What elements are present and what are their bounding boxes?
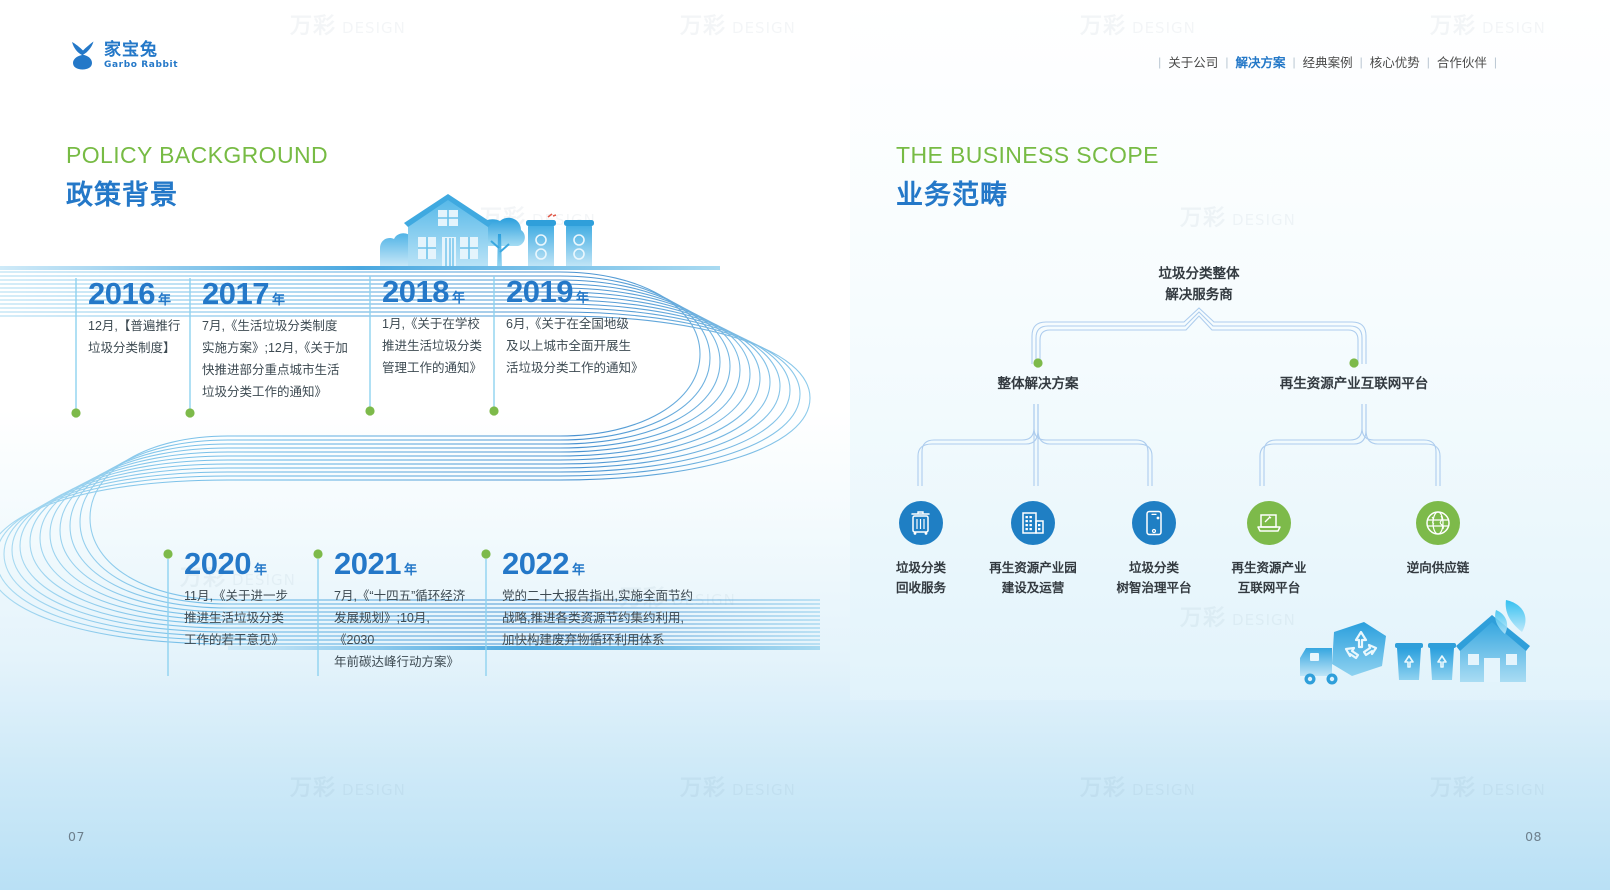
- timeline-entry-2022[interactable]: 2022年 党的二十大报告指出,实施全面节约 战略,推进各类资源节约集约利用, …: [486, 548, 716, 652]
- branch-dot-icon: [1349, 358, 1359, 368]
- nav-separator: |: [1360, 55, 1363, 69]
- timeline-year: 2019年: [506, 276, 664, 307]
- nav-item-about[interactable]: 关于公司: [1168, 52, 1218, 71]
- leaf-icon-wrap: [1416, 501, 1460, 545]
- leaf-label: 再生资源产业 互联网平台: [1199, 558, 1339, 598]
- page-number-left: 07: [68, 829, 85, 844]
- nav-item-advantages[interactable]: 核心优势: [1370, 52, 1420, 71]
- org-branch-node-2: 再生资源产业互联网平台: [1268, 372, 1440, 392]
- org-branch-node-1: 整体解决方案: [968, 372, 1108, 392]
- timeline-year: 2022年: [502, 548, 716, 579]
- nav-separator: |: [1427, 55, 1430, 69]
- leaf-icon-wrap: [1247, 501, 1291, 545]
- brand-logo[interactable]: 家宝兔 Garbo Rabbit: [70, 40, 178, 70]
- timeline-description: 党的二十大报告指出,实施全面节约 战略,推进各类资源节约集约利用, 加快构建废弃…: [502, 586, 716, 652]
- nav-item-solutions[interactable]: 解决方案: [1235, 52, 1285, 71]
- trash-bin-icon: [909, 510, 933, 536]
- rabbit-icon: [70, 40, 96, 70]
- nav-separator: |: [1494, 55, 1497, 69]
- timeline-entry-2021[interactable]: 2021年 7月,《“十四五”循环经济 发展规划》;10月,《2030 年前碳达…: [318, 548, 468, 674]
- timeline-entry-2016[interactable]: 2016年 12月,【普遍推行 垃圾分类制度】: [76, 278, 198, 360]
- org-leaf-reverse-supply-chain[interactable]: 逆向供应链: [1368, 501, 1508, 578]
- section-title-cn-scope: 业务范畴: [896, 173, 1159, 212]
- timeline-description: 6月,《关于在全国地级 及以上城市全面开展生 活垃圾分类工作的通知》: [506, 314, 664, 380]
- branch-dot-icon: [1033, 358, 1043, 368]
- leaf-label: 再生资源产业园 建设及运营: [963, 558, 1103, 598]
- timeline-year: 2020年: [184, 548, 308, 579]
- globe-icon: [1425, 510, 1451, 536]
- org-leaf-industrial-park[interactable]: 再生资源产业园 建设及运营: [963, 501, 1103, 598]
- leaf-icon-wrap: [1132, 501, 1176, 545]
- leaf-icon-wrap: [1011, 501, 1055, 545]
- brand-name-en: Garbo Rabbit: [104, 61, 178, 70]
- timeline-year: 2017年: [202, 278, 350, 309]
- timeline-entry-2019[interactable]: 2019年 6月,《关于在全国地级 及以上城市全面开展生 活垃圾分类工作的通知》: [494, 276, 664, 380]
- nav-separator: |: [1158, 55, 1161, 69]
- nav-separator: |: [1225, 55, 1228, 69]
- recycling-scene-illustration: [1300, 596, 1530, 686]
- page-title-right: THE BUSINESS SCOPE 业务范畴: [896, 142, 1159, 212]
- timeline-description: 7月,《生活垃圾分类制度 实施方案》;12月,《关于加 快推进部分重点城市生活 …: [202, 316, 350, 404]
- nav-item-partners[interactable]: 合作伙伴: [1437, 52, 1487, 71]
- section-title-en-policy: POLICY BACKGROUND: [66, 142, 328, 169]
- nav-separator: |: [1292, 55, 1295, 69]
- leaf-icon-wrap: [899, 501, 943, 545]
- timeline-entry-2017[interactable]: 2017年 7月,《生活垃圾分类制度 实施方案》;12月,《关于加 快推进部分重…: [190, 278, 350, 404]
- timeline-year: 2021年: [334, 548, 468, 579]
- org-leaf-internet-platform[interactable]: 再生资源产业 互联网平台: [1199, 501, 1339, 598]
- building-icon: [1020, 511, 1046, 535]
- laptop-icon: [1256, 511, 1282, 535]
- page-number-right: 08: [1525, 829, 1542, 844]
- nav-item-cases[interactable]: 经典案例: [1303, 52, 1353, 71]
- timeline-entry-2020[interactable]: 2020年 11月,《关于进一步 推进生活垃圾分类 工作的若干意见》: [168, 548, 308, 652]
- timeline-description: 7月,《“十四五”循环经济 发展规划》;10月,《2030 年前碳达峰行动方案》: [334, 586, 468, 674]
- brand-name-cn: 家宝兔: [104, 41, 178, 58]
- section-title-en-scope: THE BUSINESS SCOPE: [896, 142, 1159, 169]
- mobile-phone-icon: [1145, 510, 1163, 536]
- leaf-label: 逆向供应链: [1368, 558, 1508, 578]
- org-chart-connectors: [880, 300, 1500, 520]
- timeline-description: 11月,《关于进一步 推进生活垃圾分类 工作的若干意见》: [184, 586, 308, 652]
- main-nav[interactable]: | 关于公司 | 解决方案 | 经典案例 | 核心优势 | 合作伙伴 |: [1151, 52, 1504, 71]
